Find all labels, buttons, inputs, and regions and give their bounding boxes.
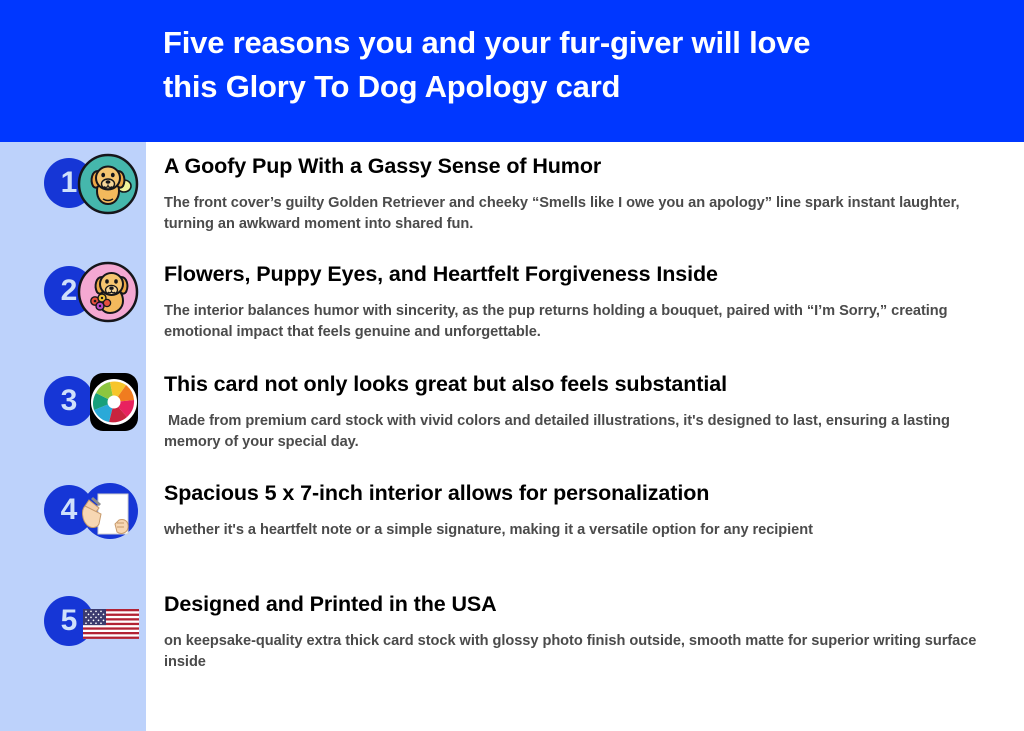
reason-badge-2: 2: [44, 261, 144, 323]
golden-retriever-teal-circle-icon: [77, 153, 139, 215]
puppy-with-bouquet-pink-circle-icon: [77, 261, 139, 323]
reason-body-5: on keepsake-quality extra thick card sto…: [164, 631, 1004, 673]
hand-writing-on-paper-icon: [77, 480, 139, 542]
reason-title-5: Designed and Printed in the USA: [164, 591, 1004, 617]
reason-text-5: Designed and Printed in the USA on keeps…: [164, 591, 1004, 673]
reason-text-1: A Goofy Pup With a Gassy Sense of Humor …: [164, 153, 1004, 235]
reason-title-3: This card not only looks great but also …: [164, 371, 1004, 397]
reason-badge-4: 4: [44, 480, 144, 542]
reason-badge-5: 5: [44, 591, 144, 653]
reason-body-4: whether it's a heartfelt note or a simpl…: [164, 520, 1004, 541]
reason-body-2: The interior balances humor with sinceri…: [164, 301, 1004, 343]
reason-title-2: Flowers, Puppy Eyes, and Heartfelt Forgi…: [164, 261, 1004, 287]
page-title: Five reasons you and your fur-giver will…: [163, 21, 993, 109]
reason-list: 1: [0, 142, 1024, 731]
usa-flag-icon: [77, 591, 139, 653]
camera-aperture-icon: [77, 371, 139, 433]
reason-body-3: Made from premium card stock with vivid …: [164, 411, 1004, 453]
reason-title-1: A Goofy Pup With a Gassy Sense of Humor: [164, 153, 1004, 179]
reason-title-4: Spacious 5 x 7-inch interior allows for …: [164, 480, 1004, 506]
reason-body-1: The front cover’s guilty Golden Retrieve…: [164, 193, 1004, 235]
feature-list-infographic: Five reasons you and your fur-giver will…: [0, 0, 1024, 731]
reason-text-3: This card not only looks great but also …: [164, 371, 1004, 453]
reason-text-4: Spacious 5 x 7-inch interior allows for …: [164, 480, 1004, 541]
reason-badge-1: 1: [44, 153, 144, 215]
reason-badge-3: 3: [44, 371, 144, 433]
header-banner: Five reasons you and your fur-giver will…: [0, 0, 1024, 142]
reason-text-2: Flowers, Puppy Eyes, and Heartfelt Forgi…: [164, 261, 1004, 343]
